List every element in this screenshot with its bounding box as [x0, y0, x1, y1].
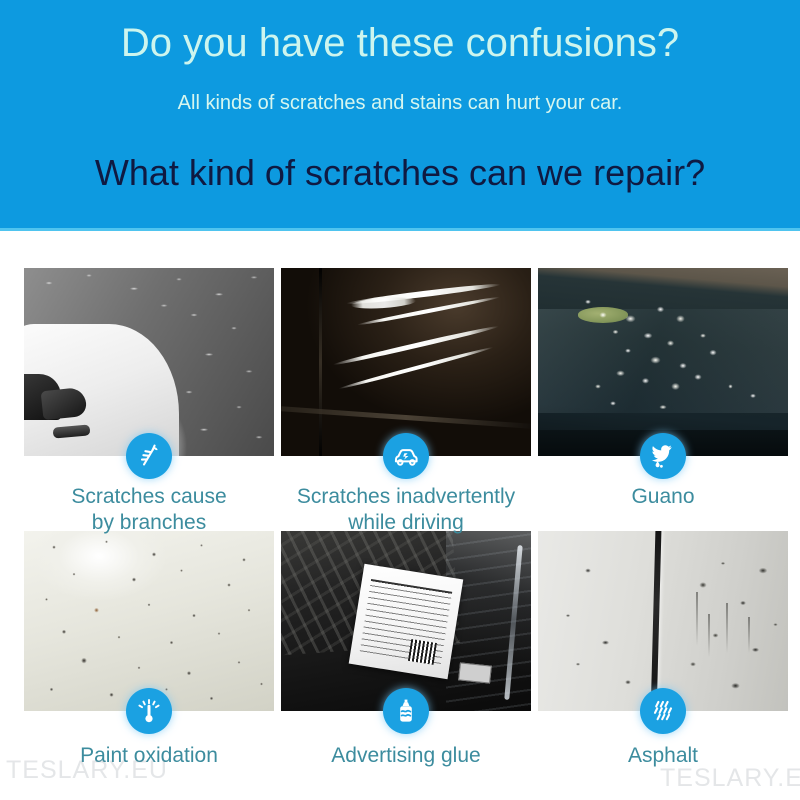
flyer-text-lines	[359, 579, 452, 667]
license-plate	[458, 662, 492, 683]
caption-advertising-glue: Advertising glue	[263, 743, 549, 769]
caption-driving-scratches: Scratches inadvertently while driving	[263, 484, 549, 536]
sun-thermometer-icon	[126, 688, 172, 734]
caption-line-1: Advertising glue	[331, 744, 480, 767]
tar-streak	[708, 614, 710, 657]
caption-line-1: Scratches inadvertently	[297, 485, 515, 508]
watermark-left: TESLARY.EU	[6, 756, 168, 785]
caption-line-2: by branches	[92, 511, 206, 534]
photo-driving-scratches	[281, 268, 531, 456]
photo-asphalt	[538, 531, 788, 711]
page-subtitle: All kinds of scratches and stains can hu…	[0, 92, 800, 115]
car-scratch-icon	[383, 433, 429, 479]
photo-branches	[24, 268, 274, 456]
photo-art	[24, 268, 274, 456]
advert-flyer	[349, 563, 464, 678]
oxidation-specks	[24, 531, 274, 711]
rain-dashes-icon	[640, 688, 686, 734]
caption-branches: Scratches cause by branches	[6, 484, 292, 536]
page-question: What kind of scratches can we repair?	[0, 152, 800, 194]
bird-droppings-icon	[640, 433, 686, 479]
caption-line-1: Guano	[631, 485, 694, 508]
photo-art	[281, 268, 531, 456]
scratch-mark	[333, 324, 500, 367]
tar-streak	[726, 603, 728, 653]
header-banner: Do you have these confusions? All kinds …	[0, 0, 800, 231]
scratch-mark	[351, 296, 417, 311]
watermark-right: TESLARY.EU	[660, 764, 800, 793]
grid-item-asphalt[interactable]: Asphalt	[538, 531, 788, 711]
glue-bottle-icon	[383, 688, 429, 734]
grid-item-guano[interactable]: Guano	[538, 268, 788, 456]
door-seam	[319, 268, 322, 456]
photo-guano	[538, 268, 788, 456]
tar-streak	[696, 592, 698, 646]
droppings-texture	[538, 268, 788, 456]
damage-type-grid: Scratches cause by branches	[0, 231, 800, 800]
photo-advertising-glue	[281, 531, 531, 711]
photo-art	[281, 531, 531, 711]
photo-paint-oxidation	[24, 531, 274, 711]
tar-streak	[748, 617, 750, 653]
grid-item-advertising-glue[interactable]: Advertising glue	[281, 531, 531, 711]
caption-guano: Guano	[520, 484, 800, 510]
photo-art	[538, 531, 788, 711]
car-mirror-shape	[41, 387, 88, 421]
grid-item-paint-oxidation[interactable]: Paint oxidation	[24, 531, 274, 711]
flyer-barcode	[408, 638, 437, 664]
caption-line-1: Scratches cause	[71, 485, 226, 508]
scratch-mark	[338, 345, 494, 390]
caption-line-2: while driving	[348, 511, 464, 534]
branch-icon	[126, 433, 172, 479]
car-handle-shape	[53, 425, 91, 439]
grid-item-branches[interactable]: Scratches cause by branches	[24, 268, 274, 456]
photo-art	[538, 268, 788, 456]
grid-item-driving-scratches[interactable]: Scratches inadvertently while driving	[281, 268, 531, 456]
photo-art	[24, 531, 274, 711]
page-title: Do you have these confusions?	[0, 21, 800, 66]
tar-spots-texture	[538, 531, 788, 711]
